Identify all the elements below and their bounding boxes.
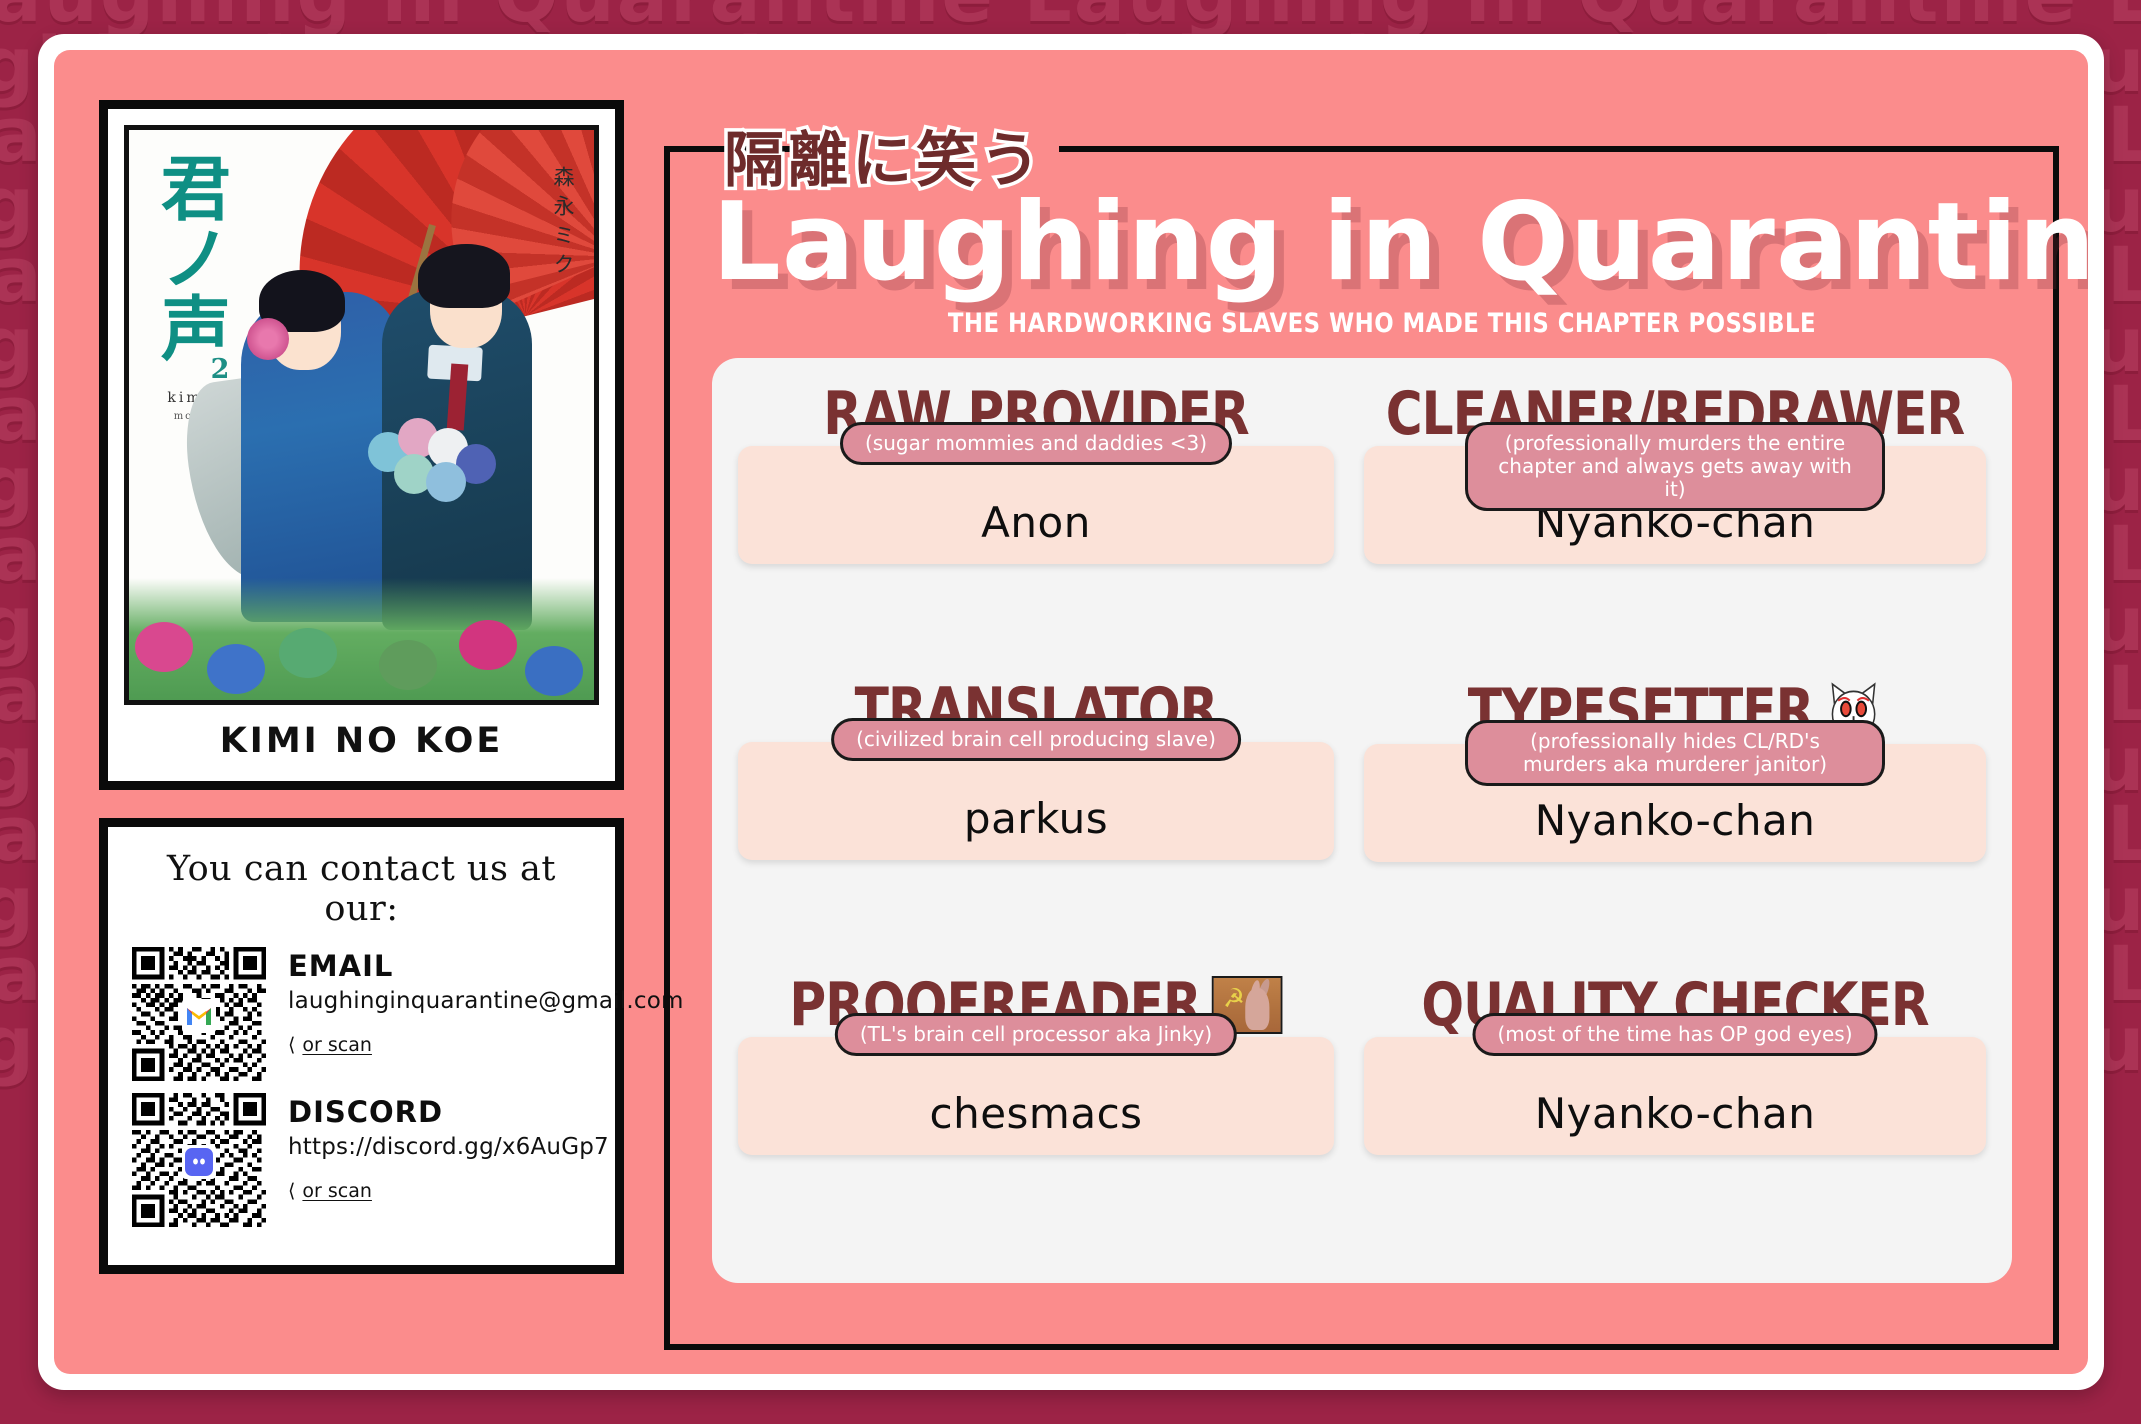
or-scan-label-discord: or scan xyxy=(302,1180,372,1202)
bunny-body-icon xyxy=(1245,988,1269,1030)
credit-cleaner-redrawer: CLEANER/REDRAWER (professionally murders… xyxy=(1364,380,1986,670)
page-title-en: Laughing in Quarantine xyxy=(712,180,2052,305)
credit-typesetter: TYPESETTER xyxy=(1364,676,1986,966)
cover-caption: KIMI NO KOE xyxy=(124,705,599,775)
contact-card: You can contact us at our: xyxy=(99,818,624,1274)
credit-raw-provider: RAW PROVIDER (sugar mommies and daddies … xyxy=(738,380,1334,670)
qr-code-email[interactable] xyxy=(132,947,266,1085)
contact-label-discord: DISCORD xyxy=(288,1097,609,1129)
credit-name: Nyanko-chan xyxy=(1535,1093,1816,1135)
or-scan-hint-discord: ⟨ or scan xyxy=(288,1180,609,1202)
discord-icon xyxy=(182,1145,216,1179)
hair-flower-icon xyxy=(247,318,289,360)
credit-name: Anon xyxy=(981,502,1091,544)
or-scan-hint-email: ⟨ or scan xyxy=(288,1034,684,1056)
hydrangea-bouquet xyxy=(368,418,498,510)
credits-card: RAW PROVIDER (sugar mommies and daddies … xyxy=(712,358,2012,1283)
chevron-left-icon: ⟨ xyxy=(288,1180,295,1202)
page-title-en-text: Laughing in Quarantine xyxy=(712,180,2088,305)
suited-man-hair xyxy=(418,244,510,308)
contact-value-email: laughinginquarantine@gmail.com xyxy=(288,988,684,1014)
credit-name: Nyanko-chan xyxy=(1535,800,1816,842)
credit-description: (professionally murders the entire chapt… xyxy=(1465,422,1885,511)
credit-namebox: (professionally murders the entire chapt… xyxy=(1364,446,1986,564)
cover-author-jp: 森永ミク xyxy=(548,166,578,386)
credit-name: parkus xyxy=(964,798,1108,840)
contact-info-email: EMAIL laughinginquarantine@gmail.com ⟨ o… xyxy=(288,947,684,1085)
contact-heading: You can contact us at our: xyxy=(132,849,591,929)
contact-row-email: EMAIL laughinginquarantine@gmail.com ⟨ o… xyxy=(132,947,591,1085)
manga-cover-card: 君ノ声 2 kimi no koe morinaga miku 森永ミク xyxy=(99,100,624,790)
credit-description: (professionally hides CL/RD's murders ak… xyxy=(1465,720,1885,786)
outer-white-frame: 君ノ声 2 kimi no koe morinaga miku 森永ミク xyxy=(38,34,2104,1390)
credit-namebox: (professionally hides CL/RD's murders ak… xyxy=(1364,744,1986,862)
contact-row-discord: DISCORD https://discord.gg/x6AuGp7 ⟨ or … xyxy=(132,1093,591,1231)
contact-label-email: EMAIL xyxy=(288,951,684,983)
gmail-icon-svg xyxy=(185,1005,213,1027)
credit-namebox: (civilized brain cell producing slave) p… xyxy=(738,742,1334,860)
left-column: 君ノ声 2 kimi no koe morinaga miku 森永ミク xyxy=(99,100,624,1274)
credit-quality-checker: QUALITY CHECKER (most of the time has OP… xyxy=(1364,971,1986,1261)
contact-value-discord: https://discord.gg/x6AuGp7 xyxy=(288,1134,609,1160)
credits-page: Laughing in Quarantine Laughing in Quara… xyxy=(0,0,2141,1424)
page-tagline: THE HARDWORKING SLAVES WHO MADE THIS CHA… xyxy=(752,308,2012,339)
or-scan-label-email: or scan xyxy=(302,1034,372,1056)
watermark-line: Laughing in Quarantine Laughing in Quara… xyxy=(0,0,2141,30)
credit-description: (civilized brain cell producing slave) xyxy=(831,718,1241,761)
contact-info-discord: DISCORD https://discord.gg/x6AuGp7 ⟨ or … xyxy=(288,1093,609,1231)
qr-code-discord[interactable] xyxy=(132,1093,266,1231)
credit-description: (most of the time has OP god eyes) xyxy=(1473,1013,1878,1056)
pink-panel: 君ノ声 2 kimi no koe morinaga miku 森永ミク xyxy=(54,50,2088,1374)
credit-description: (TL's brain cell processor aka Jinky) xyxy=(835,1013,1237,1056)
credit-proofreader: PROOFREADER ☭ (TL's brain cell processor… xyxy=(738,971,1334,1261)
manga-cover-art: 君ノ声 2 kimi no koe morinaga miku 森永ミク xyxy=(124,125,599,705)
gmail-icon xyxy=(182,999,216,1033)
chevron-left-icon: ⟨ xyxy=(288,1034,295,1056)
credit-namebox: (TL's brain cell processor aka Jinky) ch… xyxy=(738,1037,1334,1155)
credit-description: (sugar mommies and daddies <3) xyxy=(840,422,1232,465)
discord-icon-svg xyxy=(184,1147,214,1177)
hydrangea-flowerbed xyxy=(129,578,594,700)
credit-namebox: (sugar mommies and daddies <3) Anon xyxy=(738,446,1334,564)
credit-name: chesmacs xyxy=(929,1093,1142,1135)
hammer-and-sickle-icon: ☭ xyxy=(1223,986,1244,1012)
right-column: 隔離に笑う Laughing in Quarantine THE HARDWOR… xyxy=(664,90,2064,1370)
credit-translator: TRANSLATOR (civilized brain cell produci… xyxy=(738,676,1334,966)
credit-namebox: (most of the time has OP god eyes) Nyank… xyxy=(1364,1037,1986,1155)
